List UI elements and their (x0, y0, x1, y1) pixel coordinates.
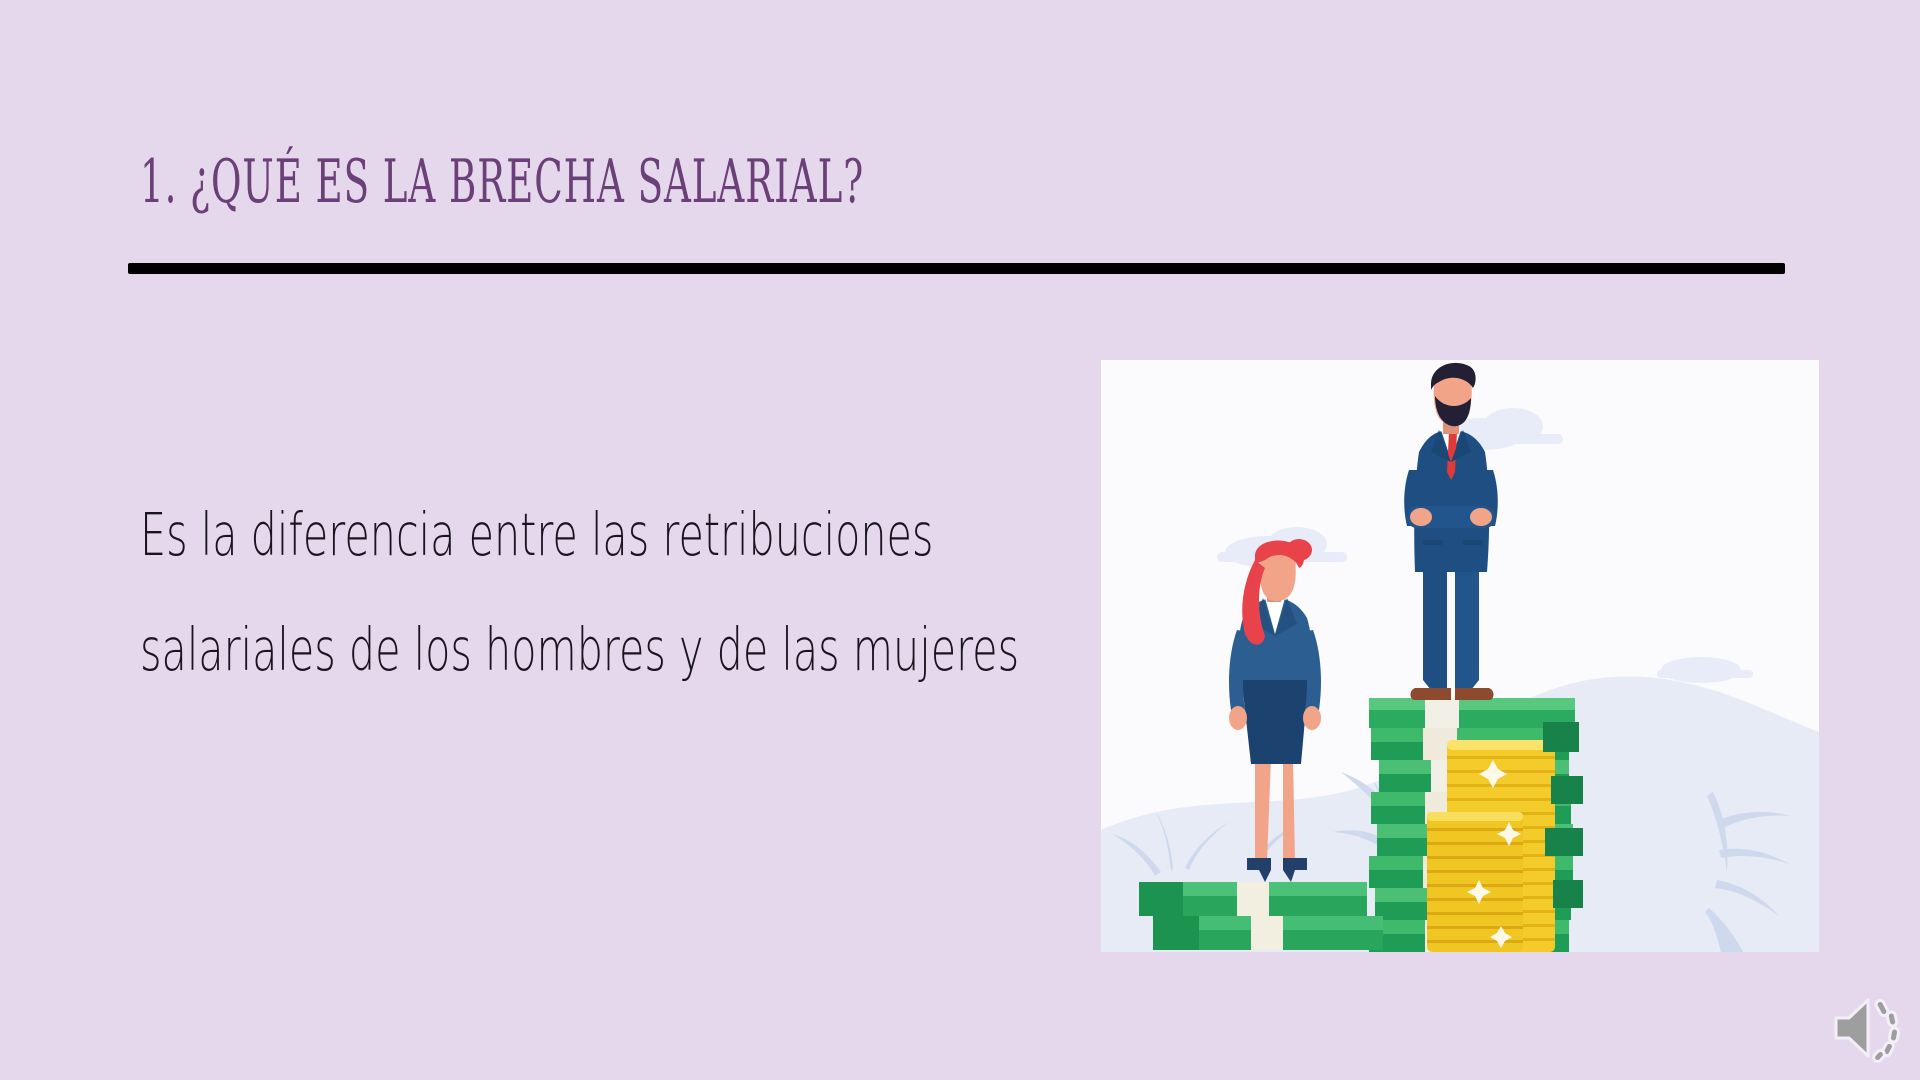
woman-hair-bun (1286, 539, 1312, 561)
tall-money-stack (1369, 698, 1583, 952)
short-money-stack (1139, 882, 1383, 950)
body-text-line-1: Es la diferencia entre las retribuciones (140, 505, 812, 564)
woman-right-hand (1303, 706, 1321, 730)
man-right-shoe (1455, 688, 1494, 700)
body-text-line-2: salariales de los hombres y de las mujer… (140, 620, 812, 679)
page-title: 1. ¿QUÉ ES LA BRECHA SALARIAL? (140, 152, 864, 212)
woman-right-leg (1283, 758, 1295, 862)
woman-skirt (1241, 674, 1309, 764)
man-left-shoe (1411, 688, 1452, 700)
title-divider-rule (128, 263, 1785, 274)
slide-canvas: 1. ¿QUÉ ES LA BRECHA SALARIAL? Es la dif… (0, 0, 1920, 1080)
woman-left-hand (1229, 706, 1247, 730)
speaker-volume-icon[interactable] (1832, 992, 1908, 1064)
man-pocket-left (1423, 540, 1443, 545)
man-right-hand (1470, 508, 1492, 526)
illustration-panel (1101, 360, 1819, 952)
man-pocket-right (1463, 540, 1483, 545)
man-left-hand (1410, 508, 1432, 526)
pay-gap-illustration (1101, 360, 1819, 952)
body-text-block: Es la diferencia entre las retribuciones… (140, 505, 1100, 735)
man-right-leg (1455, 568, 1479, 690)
man-left-leg (1423, 568, 1447, 690)
